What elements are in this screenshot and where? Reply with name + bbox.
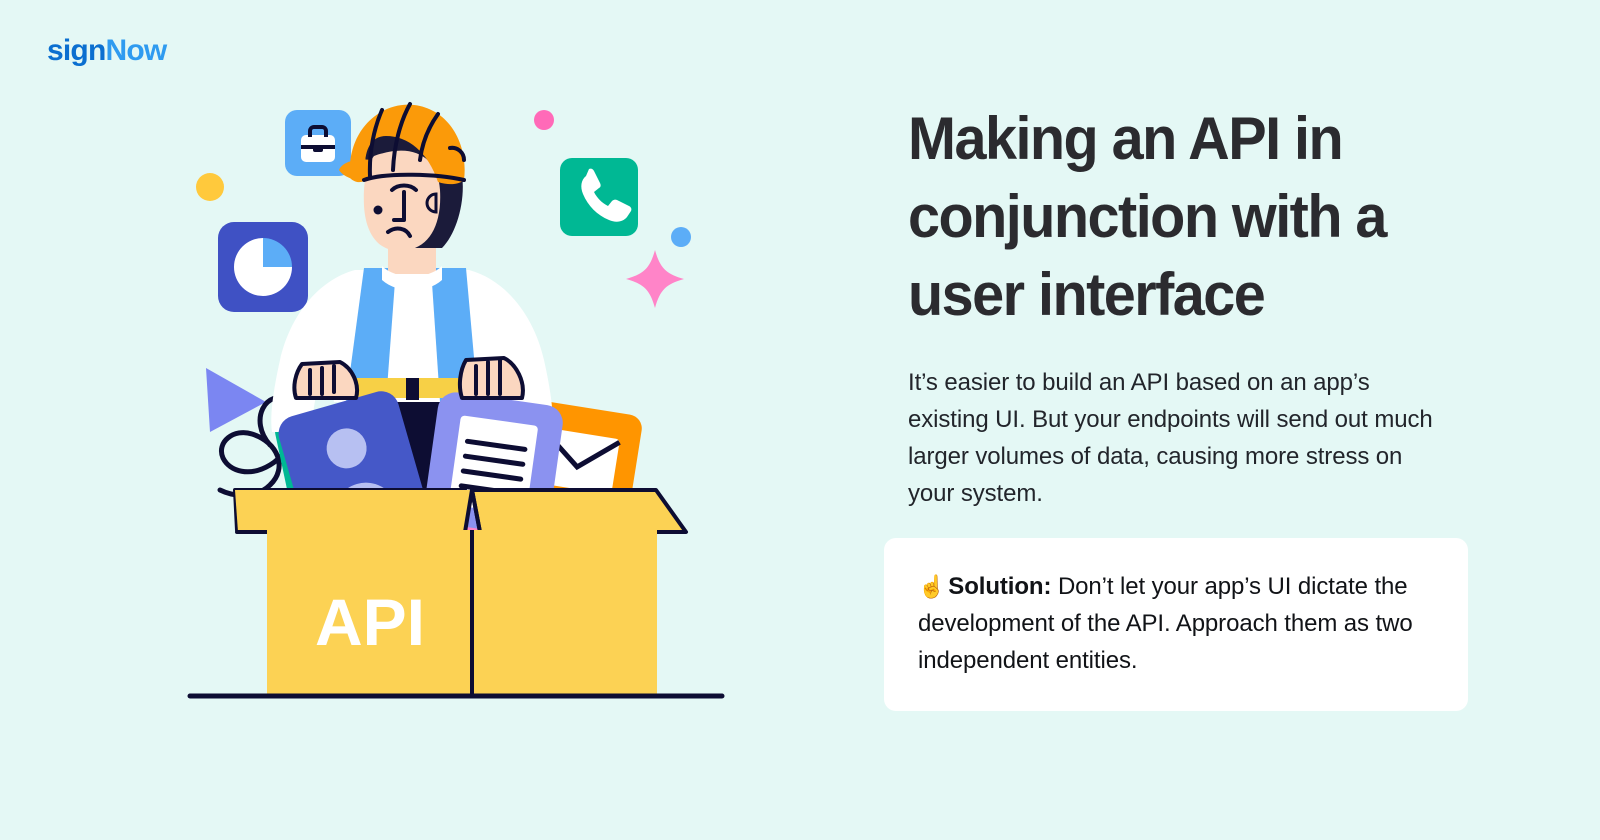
worker-ear xyxy=(427,194,436,212)
worker-hand-left xyxy=(294,362,357,398)
slide-canvas: signNow xyxy=(0,0,1600,840)
content-column: Making an API in conjunction with a user… xyxy=(908,100,1488,512)
page-title: Making an API in conjunction with a user… xyxy=(908,100,1426,334)
worker-hand-right xyxy=(460,358,523,398)
worker-eye-left xyxy=(374,206,383,215)
solution-text: ☝️Solution: Don’t let your app’s UI dict… xyxy=(918,568,1434,679)
purple-triangle-icon xyxy=(206,368,266,432)
solution-label: Solution: xyxy=(948,573,1051,600)
pink-sparkle-icon xyxy=(626,250,684,308)
belt-buckle xyxy=(406,378,419,400)
blue-dot xyxy=(671,227,691,247)
body-paragraph: It’s easier to build an API based on an … xyxy=(908,364,1448,512)
pie-chart-tile xyxy=(218,222,308,312)
logo-text-sign: sign xyxy=(47,34,105,67)
pointing-up-icon: ☝️ xyxy=(918,574,945,599)
solution-callout: ☝️Solution: Don’t let your app’s UI dict… xyxy=(884,538,1468,711)
signnow-logo[interactable]: signNow xyxy=(47,36,166,66)
briefcase-tile xyxy=(285,110,351,176)
box-label: API xyxy=(315,585,425,659)
logo-text-now: Now xyxy=(105,34,166,67)
pink-dot xyxy=(534,110,554,130)
yellow-dot xyxy=(196,173,224,201)
api-box-illustration: $ xyxy=(120,80,800,730)
worker-head xyxy=(339,104,465,251)
cardboard-box: API xyxy=(190,490,722,696)
phone-tile xyxy=(560,158,638,236)
